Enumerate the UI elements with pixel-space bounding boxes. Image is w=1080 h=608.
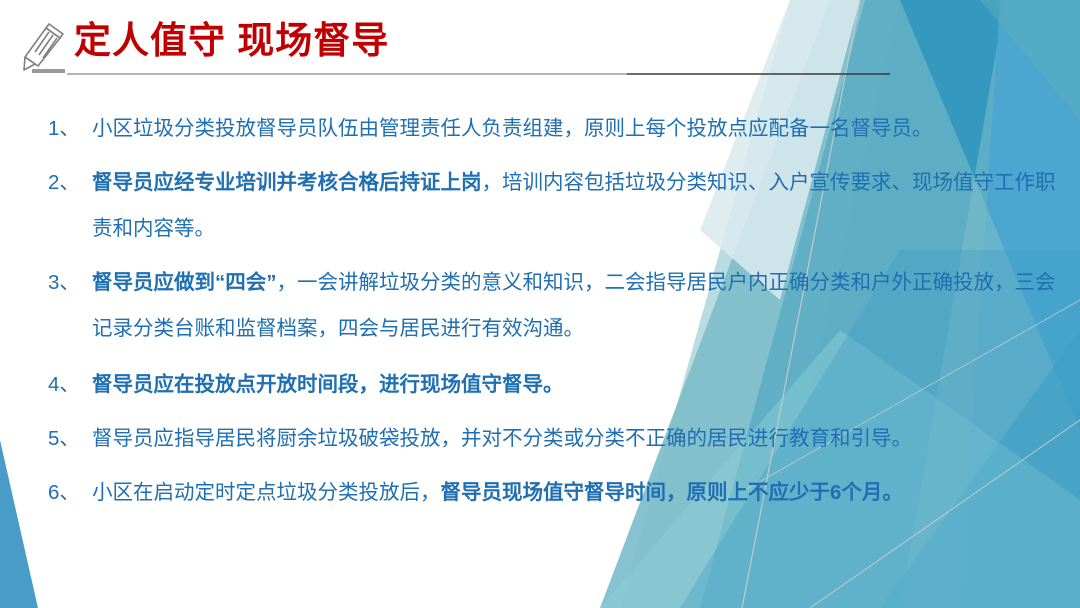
pencil-icon [16,22,68,78]
list-item-marker: 2、 [48,160,92,206]
slide-header: 定人值守 现场督导 [0,0,1080,92]
content-list: 1、小区垃圾分类投放督导员队伍由管理责任人负责组建，原则上每个投放点应配备一名督… [48,106,1058,516]
list-item-text: 小区在启动定时定点垃圾分类投放后，督导员现场值守督导时间，原则上不应少于6个月。 [92,470,1058,516]
text-run-bold: 督导员应在投放点开放时间段，进行现场值守督导。 [92,373,564,396]
list-item-text: 督导员应指导居民将厨余垃圾破袋投放，并对不分类或分类不正确的居民进行教育和引导。 [92,416,1058,462]
list-item-text: 督导员应做到“四会”，一会讲解垃圾分类的意义和知识，二会指导居民户内正确分类和户… [92,260,1058,352]
list-item-marker: 6、 [48,470,92,516]
list-item-marker: 3、 [48,260,92,306]
pencil-underline [32,69,65,73]
list-item: 6、小区在启动定时定点垃圾分类投放后，督导员现场值守督导时间，原则上不应少于6个… [48,470,1058,516]
list-item: 3、督导员应做到“四会”，一会讲解垃圾分类的意义和知识，二会指导居民户内正确分类… [48,260,1058,352]
list-item-text: 小区垃圾分类投放督导员队伍由管理责任人负责组建，原则上每个投放点应配备一名督导员… [92,106,1058,152]
list-item-marker: 4、 [48,362,92,408]
text-run-bold: 督导员应做到“四会” [92,271,277,294]
list-item: 5、督导员应指导居民将厨余垃圾破袋投放，并对不分类或分类不正确的居民进行教育和引… [48,416,1058,462]
list-item-marker: 5、 [48,416,92,462]
list-item: 2、督导员应经专业培训并考核合格后持证上岗，培训内容包括垃圾分类知识、入户宣传要… [48,160,1058,252]
list-item-marker: 1、 [48,106,92,152]
list-item: 1、小区垃圾分类投放督导员队伍由管理责任人负责组建，原则上每个投放点应配备一名督… [48,106,1058,152]
list-item: 4、督导员应在投放点开放时间段，进行现场值守督导。 [48,362,1058,408]
text-run-bold: 督导员应经专业培训并考核合格后持证上岗 [92,171,482,194]
text-run: 小区垃圾分类投放督导员队伍由管理责任人负责组建，原则上每个投放点应配备一名督导员… [92,117,933,140]
bottom-left-wedge [0,440,38,608]
text-run-bold: 督导员现场值守督导时间，原则上不应少于6个月。 [441,481,903,504]
text-run: 督导员应指导居民将厨余垃圾破袋投放，并对不分类或分类不正确的居民进行教育和引导。 [92,427,912,450]
list-item-text: 督导员应经专业培训并考核合格后持证上岗，培训内容包括垃圾分类知识、入户宣传要求、… [92,160,1058,252]
text-run: 小区在启动定时定点垃圾分类投放后， [92,481,441,504]
slide-canvas: 定人值守 现场督导 1、小区垃圾分类投放督导员队伍由管理责任人负责组建，原则上每… [0,0,1080,608]
title-divider [67,73,890,75]
page-title: 定人值守 现场督导 [74,19,389,63]
list-item-text: 督导员应在投放点开放时间段，进行现场值守督导。 [92,362,1058,408]
